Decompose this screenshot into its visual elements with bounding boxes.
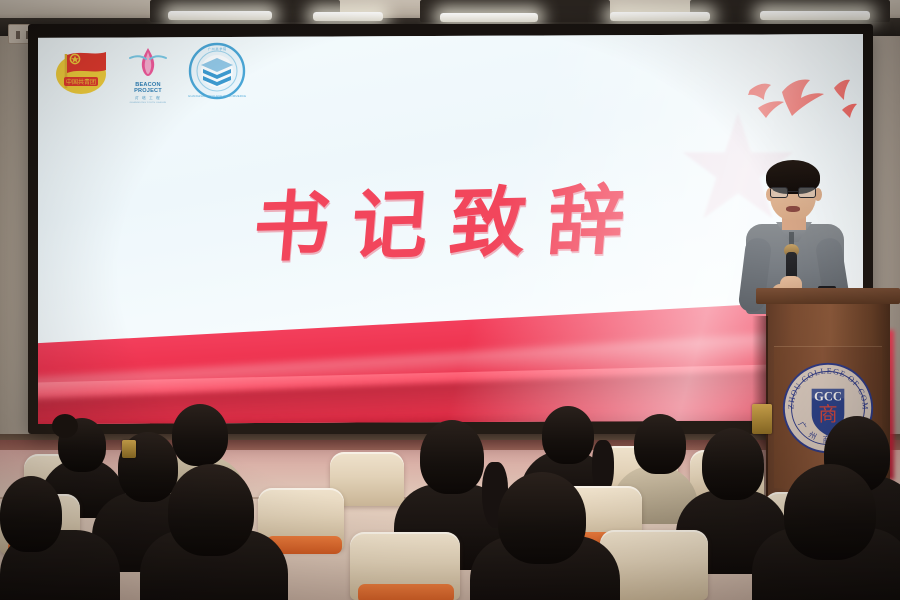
glasses-lens: [798, 187, 816, 198]
hair-clip-icon: [122, 440, 136, 458]
audience-member-head: [168, 464, 254, 556]
ceiling-light: [440, 13, 538, 22]
audience-member-head: [172, 404, 228, 466]
ceiling-light: [168, 11, 272, 20]
glasses-icon: [770, 187, 816, 198]
ceiling-light: [313, 12, 383, 21]
hair-clip-icon: [752, 404, 772, 434]
glasses-lens: [770, 187, 788, 198]
audience-member-head: [784, 464, 876, 560]
auditorium-photo: 中国共青团 BEACON PROJECT 灯 塔 工 程 GUANGDONG Y…: [0, 0, 900, 600]
audience-member-head: [420, 420, 484, 494]
ceiling-light: [610, 12, 710, 21]
ceiling-light: [760, 11, 870, 20]
audience-member-head: [498, 472, 586, 564]
glasses-bridge: [788, 191, 798, 192]
audience-member-head: [634, 414, 686, 474]
audience-member-head: [702, 428, 764, 500]
podium-lectern-top: [756, 288, 900, 304]
audience-member-head: [0, 476, 62, 552]
hair-bun: [52, 414, 78, 438]
speaker-mouth: [786, 206, 800, 212]
chair-seat-cushion: [358, 584, 454, 600]
audience-member-head: [542, 406, 594, 464]
audience-area: [0, 380, 900, 600]
